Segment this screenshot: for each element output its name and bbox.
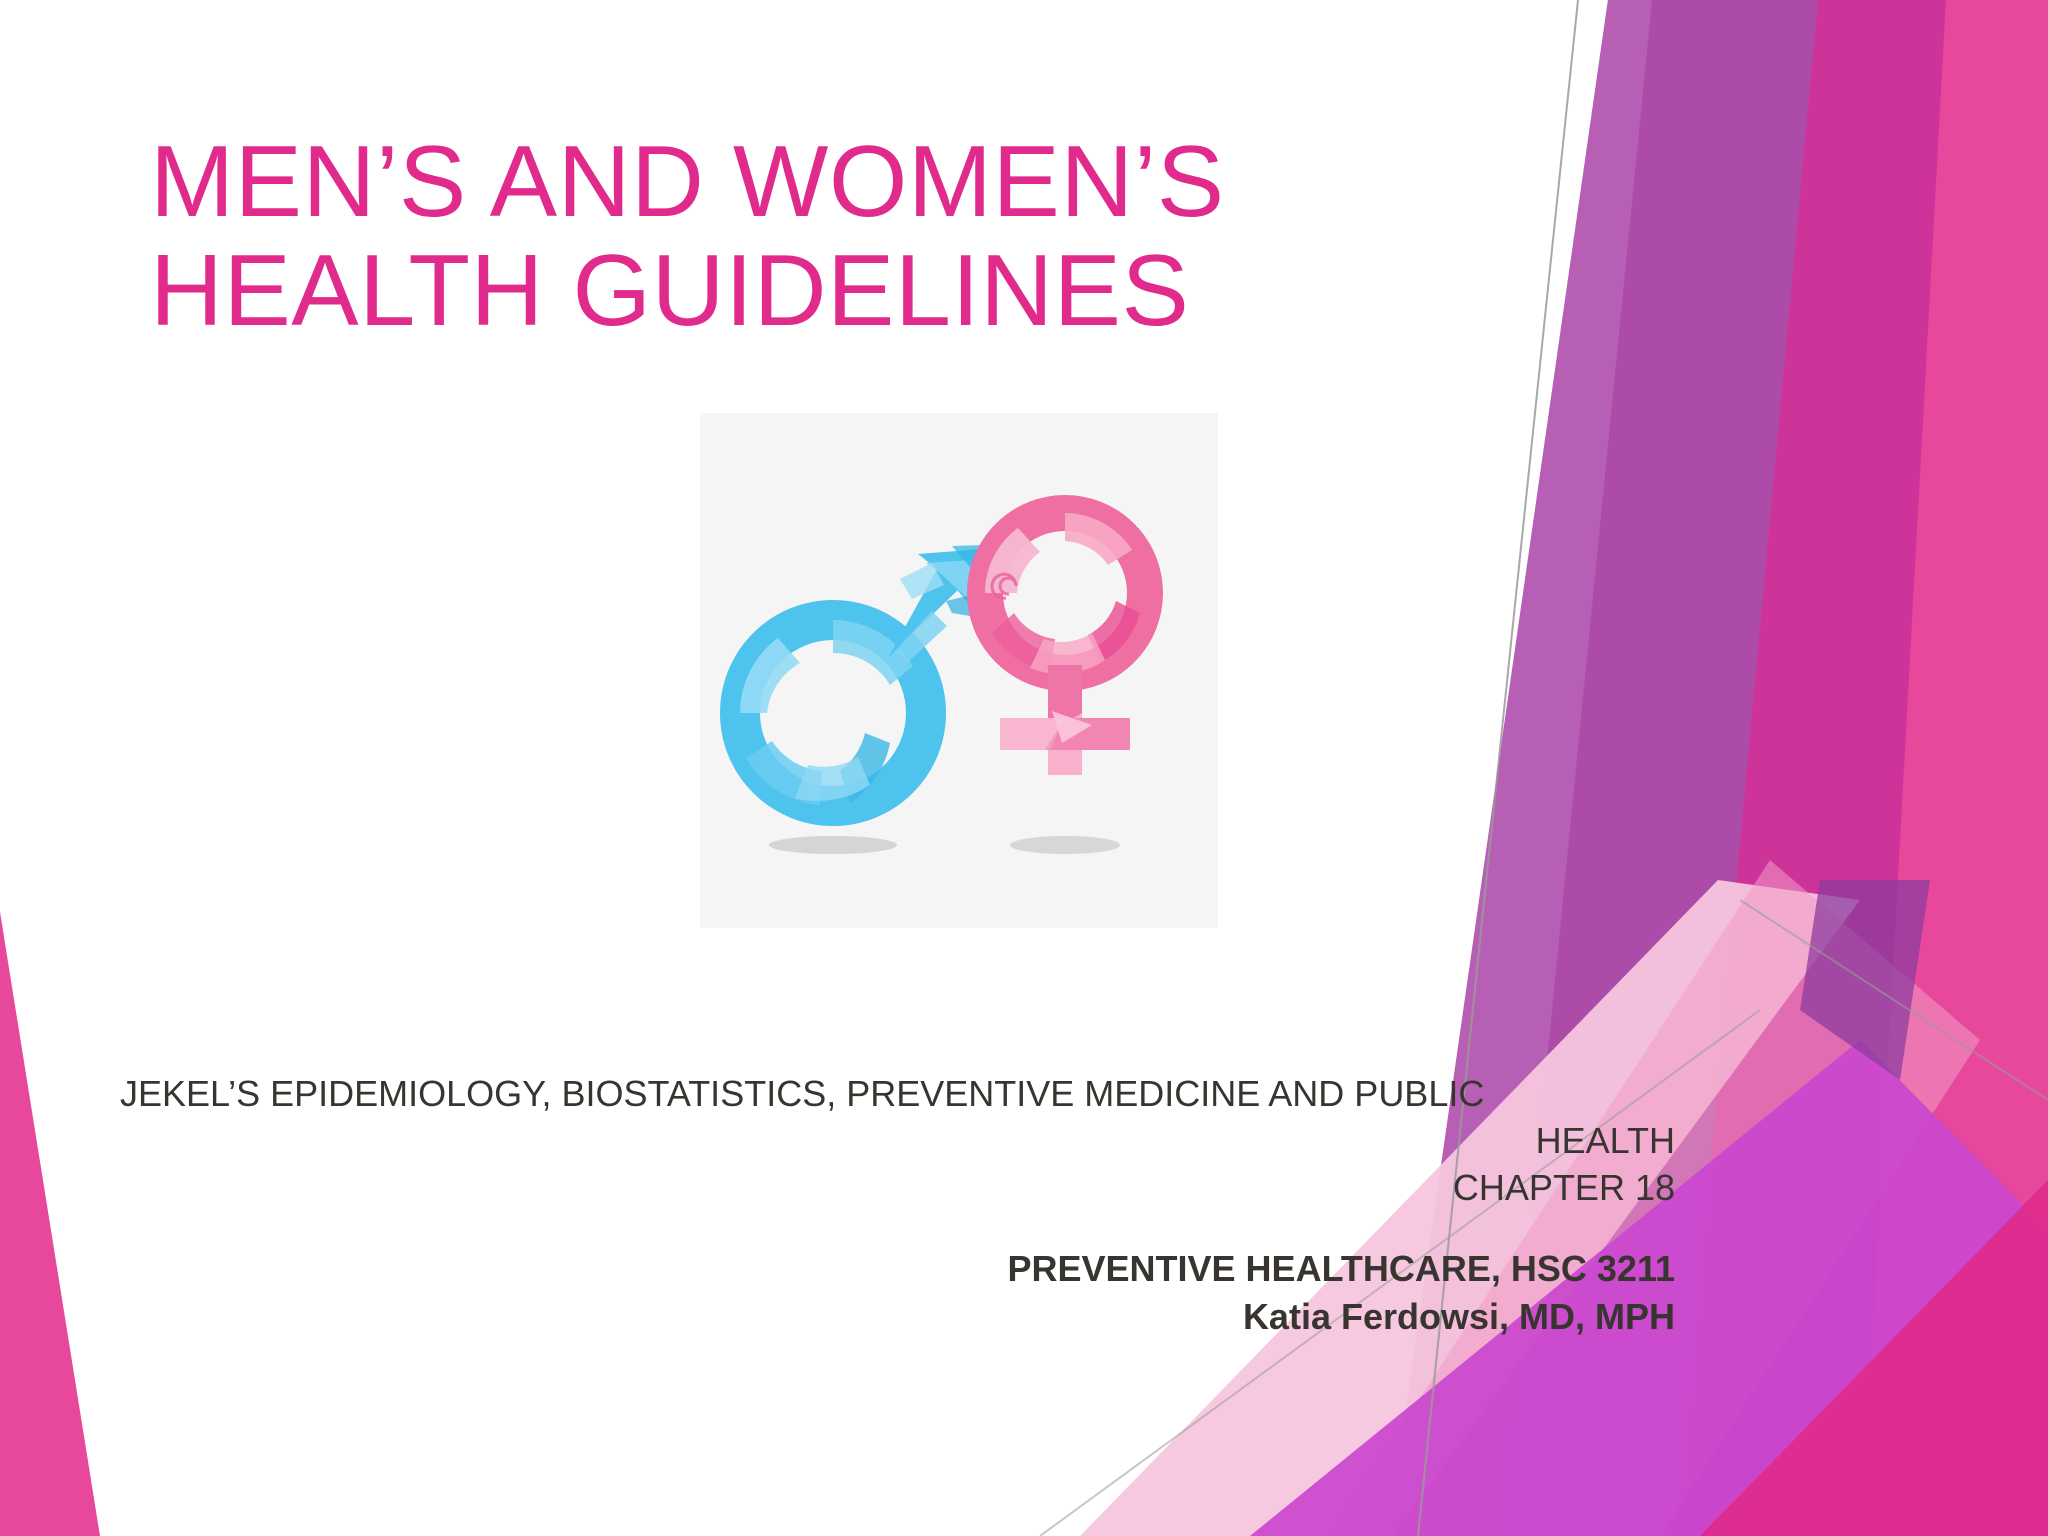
gender-symbols-picture <box>700 413 1218 928</box>
slide-subtitle: JEKEL’S EPIDEMIOLOGY, BIOSTATISTICS, PRE… <box>120 1070 1675 1340</box>
presentation-slide: MEN’S AND WOMEN’S HEALTH GUIDELINES <box>0 0 2048 1536</box>
slide-title: MEN’S AND WOMEN’S HEALTH GUIDELINES <box>150 128 1330 346</box>
title-line-2: HEALTH GUIDELINES <box>150 237 1330 346</box>
gender-symbols-artwork <box>700 413 1218 928</box>
subtitle-spacer <box>120 1211 1675 1245</box>
subtitle-presenter-line: Katia Ferdowsi, MD, MPH <box>120 1293 1675 1340</box>
subtitle-line-2: HEALTH <box>120 1117 1675 1164</box>
subtitle-course-line: PREVENTIVE HEALTHCARE, HSC 3211 <box>120 1245 1675 1292</box>
subtitle-line-1: JEKEL’S EPIDEMIOLOGY, BIOSTATISTICS, PRE… <box>120 1070 1675 1117</box>
subtitle-line-3: CHAPTER 18 <box>120 1164 1675 1211</box>
title-line-1: MEN’S AND WOMEN’S <box>150 128 1330 237</box>
